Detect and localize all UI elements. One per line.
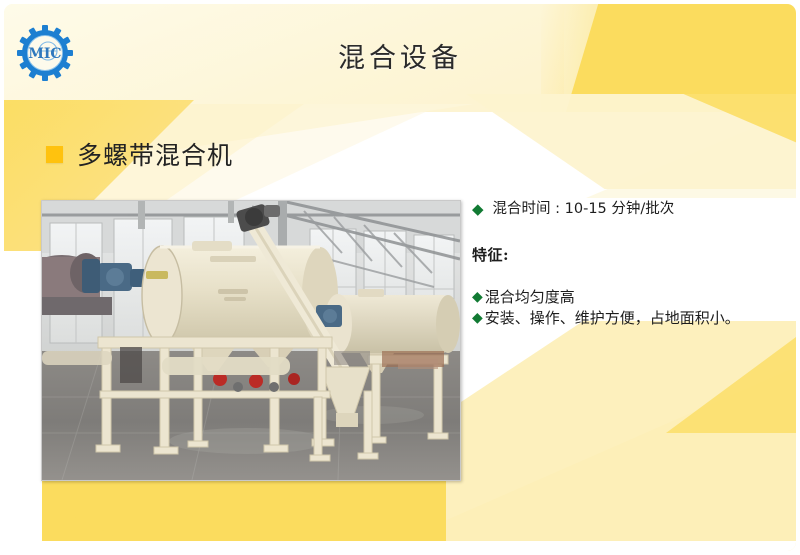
feature-item: ◆ 安装、操作、维护方便，占地面积小。 xyxy=(472,308,794,329)
section-heading-label: 多螺带混合机 xyxy=(77,136,233,172)
mixing-time-label: 混合时间 : 10-15 分钟/批次 xyxy=(493,198,675,220)
bottom-left-white-margin xyxy=(4,251,42,551)
feature-item-label: 安装、操作、维护方便，占地面积小。 xyxy=(485,308,794,329)
slide-inner-canvas: MIC 混合设备 多螺带混合机 xyxy=(4,4,796,551)
feature-item-label: 混合均匀度高 xyxy=(485,287,794,308)
section-heading: 多螺带混合机 xyxy=(46,136,233,172)
page-title: 混合设备 xyxy=(4,36,796,75)
green-diamond-icon: ◆ xyxy=(472,308,483,329)
features-label: 特征: xyxy=(472,244,794,265)
mixing-time-row: ◆ 混合时间 : 10-15 分钟/批次 xyxy=(472,198,794,220)
bottom-white-strip xyxy=(4,541,796,551)
slide-canvas: MIC 混合设备 多螺带混合机 xyxy=(0,0,800,555)
green-diamond-icon: ◆ xyxy=(472,202,484,217)
feature-item: ◆ 混合均匀度高 xyxy=(472,287,794,308)
details-panel: ◆ 混合时间 : 10-15 分钟/批次 特征: ◆ 混合均匀度高 ◆ 安装、操… xyxy=(472,198,794,329)
square-bullet-icon xyxy=(46,146,63,163)
green-diamond-icon: ◆ xyxy=(472,287,483,308)
product-photo xyxy=(41,200,461,481)
features-list: ◆ 混合均匀度高 ◆ 安装、操作、维护方便，占地面积小。 xyxy=(472,287,794,329)
